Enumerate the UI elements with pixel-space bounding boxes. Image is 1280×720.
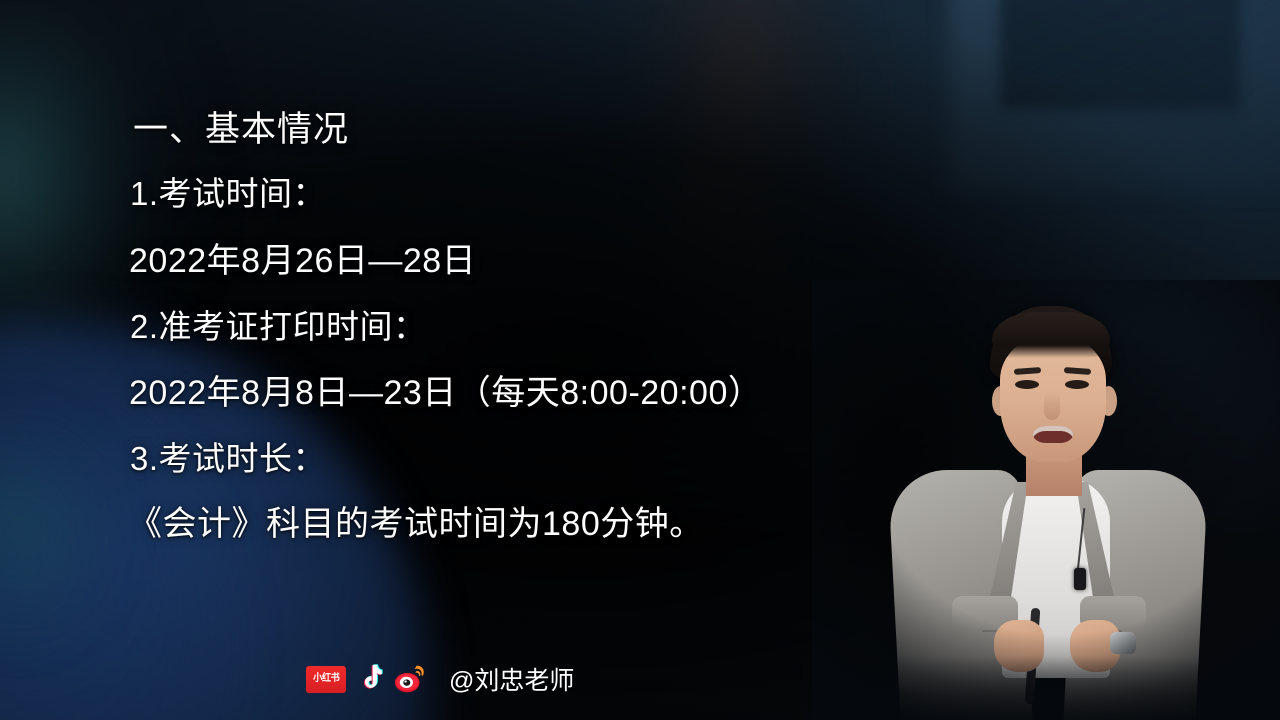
- douyin-icon[interactable]: [355, 663, 385, 695]
- xiaohongshu-icon-label: 小红书: [313, 674, 339, 684]
- video-frame: 一、基本情况 1.考试时间： 2022年8月26日—28日 2.准考证打印时间：…: [0, 0, 1280, 720]
- slide-line-5: 3.考试时长：: [130, 432, 326, 480]
- presenter-nose: [1044, 392, 1060, 420]
- slide-line-2: 2022年8月26日—28日: [129, 233, 476, 282]
- watermark-bar: 小红书: [306, 659, 574, 699]
- presenter-lapel-mic: [1074, 568, 1086, 590]
- slide-line-6: 《会计》科目的考试时间为180分钟。: [128, 496, 704, 545]
- presenter-wristwatch: [1110, 632, 1136, 654]
- watermark-handle: @刘忠老师: [449, 661, 574, 697]
- slide-heading: 一、基本情况: [133, 101, 349, 152]
- presenter-hand-left: [994, 620, 1044, 672]
- slide-line-4: 2022年8月8日—23日（每天8:00-20:00）: [129, 365, 762, 414]
- presenter-mouth: [1033, 426, 1073, 443]
- presenter-figure: [842, 300, 1280, 720]
- slide-text-block: 一、基本情况 1.考试时间： 2022年8月26日—28日 2.准考证打印时间：…: [0, 0, 820, 720]
- xiaohongshu-icon[interactable]: 小红书: [306, 666, 346, 693]
- presenter-eye-left: [1015, 380, 1039, 389]
- slide-line-3: 2.准考证打印时间：: [130, 300, 427, 348]
- weibo-icon[interactable]: [394, 664, 426, 694]
- presenter-fringe: [992, 312, 1110, 358]
- presenter-eye-right: [1065, 380, 1089, 389]
- slide-line-1: 1.考试时间：: [130, 167, 326, 215]
